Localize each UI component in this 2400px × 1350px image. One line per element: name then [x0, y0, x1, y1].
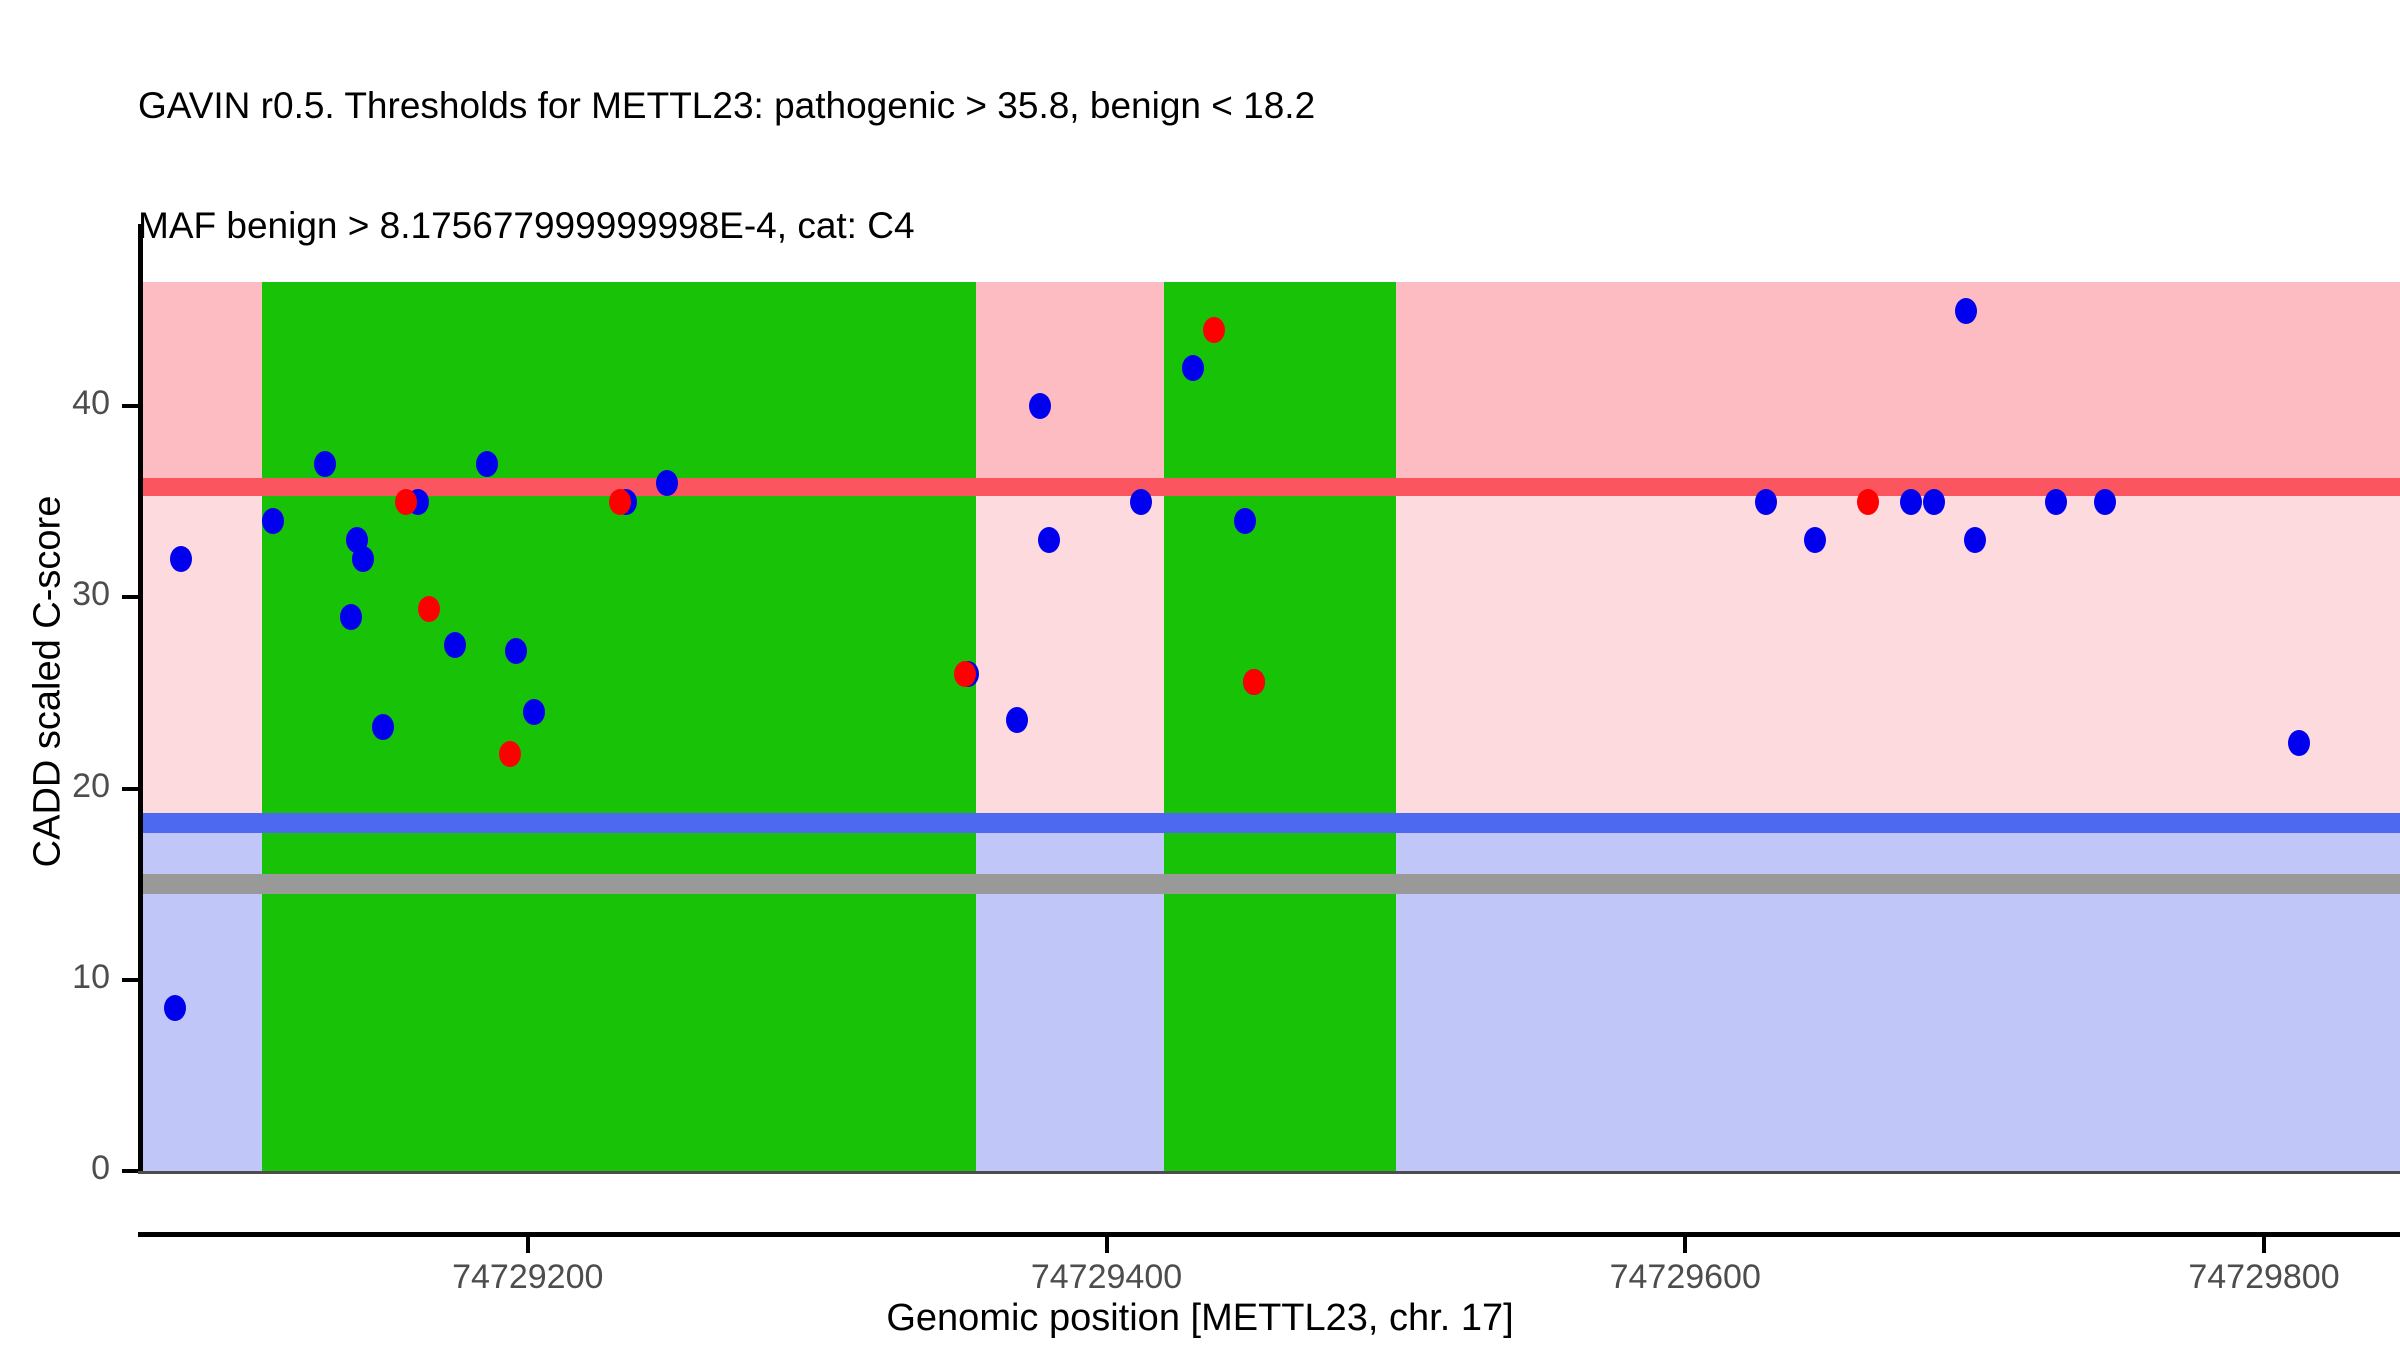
- gnomad-variant-point[interactable]: [164, 995, 186, 1021]
- clinvar-pathogenic-point[interactable]: [1857, 489, 1879, 515]
- gnomad-variant-point[interactable]: [444, 632, 466, 658]
- clinvar-pathogenic-point[interactable]: [954, 661, 976, 687]
- gnomad-variant-point[interactable]: [2094, 489, 2116, 515]
- gnomad-variant-point[interactable]: [1234, 508, 1256, 534]
- x-tick-label: 74729200: [368, 1258, 688, 1297]
- gnomad-variant-point[interactable]: [2045, 489, 2067, 515]
- plot-baseline: [138, 1171, 2400, 1174]
- gnomad-variant-point[interactable]: [1038, 527, 1060, 553]
- x-tick-label: 74729400: [947, 1258, 1267, 1297]
- y-tick: [122, 1169, 138, 1173]
- y-axis-label: CADD scaled C-score: [27, 372, 70, 992]
- gnomad-variant-point[interactable]: [1755, 489, 1777, 515]
- gnomad-variant-point[interactable]: [1955, 298, 1977, 324]
- clinvar-pathogenic-point[interactable]: [1243, 669, 1265, 695]
- x-axis-line: [138, 1232, 2400, 1237]
- gnomad-variant-point[interactable]: [314, 451, 336, 477]
- gnomad-variant-point[interactable]: [1804, 527, 1826, 553]
- gnomad-variant-point[interactable]: [1130, 489, 1152, 515]
- clinvar-pathogenic-point[interactable]: [418, 596, 440, 622]
- gnomad-variant-point[interactable]: [505, 638, 527, 664]
- plot-root: GAVIN r0.5. Thresholds for METTL23: path…: [0, 0, 2400, 1350]
- x-tick: [2262, 1237, 2266, 1253]
- y-tick: [122, 787, 138, 791]
- caption-line-1: GAVIN r0.5. Thresholds for METTL23: path…: [138, 86, 2338, 126]
- gnomad-variant-point[interactable]: [1029, 393, 1051, 419]
- gnomad-variant-point[interactable]: [2288, 730, 2310, 756]
- gnomad-variant-point[interactable]: [340, 604, 362, 630]
- x-tick: [526, 1237, 530, 1253]
- y-axis-line: [138, 224, 143, 1174]
- y-tick: [122, 404, 138, 408]
- gnomad-variant-point[interactable]: [476, 451, 498, 477]
- x-tick-label: 74729600: [1525, 1258, 1845, 1297]
- clinvar-pathogenic-point[interactable]: [499, 741, 521, 767]
- plot-panel: [140, 240, 2400, 1171]
- x-axis-label: Genomic position [METTL23, chr. 17]: [0, 1297, 2400, 1340]
- gnomad-variant-point[interactable]: [1006, 707, 1028, 733]
- gnomad-variant-point[interactable]: [262, 508, 284, 534]
- x-tick: [1683, 1237, 1687, 1253]
- clinvar-pathogenic-point[interactable]: [395, 489, 417, 515]
- x-tick: [1105, 1237, 1109, 1253]
- gnomad-variant-point[interactable]: [170, 546, 192, 572]
- gnomad-variant-point[interactable]: [1182, 355, 1204, 381]
- y-tick: [122, 978, 138, 982]
- x-tick-label: 74729800: [2104, 1258, 2400, 1297]
- clinvar-pathogenic-point[interactable]: [1203, 317, 1225, 343]
- gnomad-variant-point[interactable]: [523, 699, 545, 725]
- gnomad-variant-point[interactable]: [1923, 489, 1945, 515]
- gnomad-variant-point[interactable]: [656, 470, 678, 496]
- gnomad-variant-point[interactable]: [352, 546, 374, 572]
- scatter-points-layer: [140, 240, 2400, 1171]
- y-tick-label: 0: [0, 1149, 110, 1188]
- gnomad-variant-point[interactable]: [1964, 527, 1986, 553]
- y-tick: [122, 595, 138, 599]
- gnomad-variant-point[interactable]: [1900, 489, 1922, 515]
- gnomad-variant-point[interactable]: [372, 714, 394, 740]
